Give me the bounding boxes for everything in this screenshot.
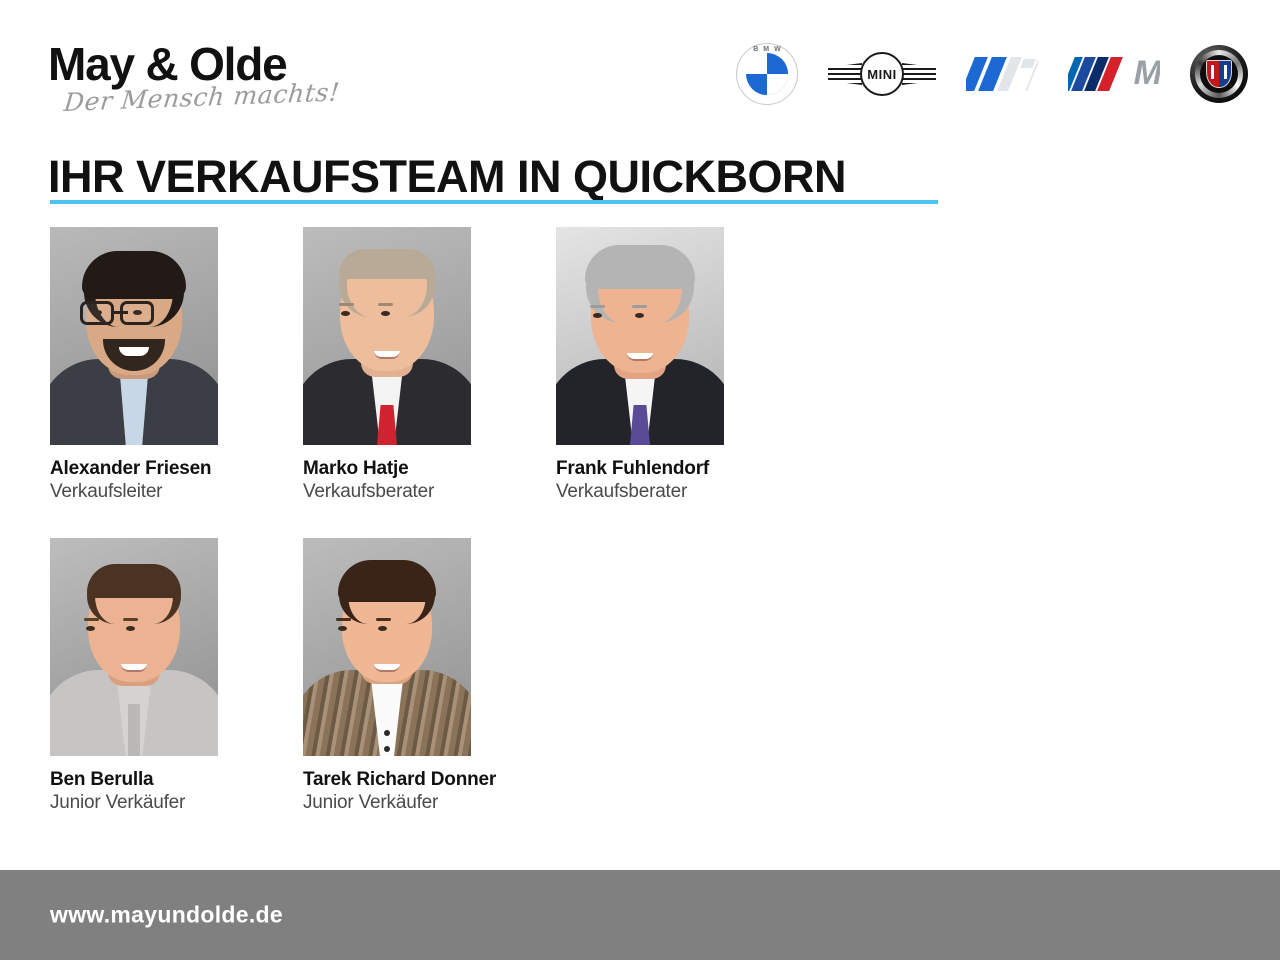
- title-underline-rule: [50, 200, 938, 204]
- team-grid: Alexander Friesen Verkaufsleiter Marko H…: [50, 227, 1230, 849]
- member-name: Tarek Richard Donner: [303, 769, 471, 791]
- member-portrait-photo: [556, 227, 724, 445]
- mini-logo-text: MINI: [867, 67, 896, 82]
- bmw-m-letter: M: [1134, 57, 1160, 91]
- team-member-card[interactable]: Tarek Richard Donner Junior Verkäufer: [303, 538, 471, 814]
- bmw-logo-text: BMW: [736, 46, 798, 53]
- page-title: IHR VERKAUFSTEAM IN QUICKBORN: [48, 151, 846, 203]
- company-logo[interactable]: May & Olde Der Mensch machts!: [48, 38, 368, 128]
- brand-logo-strip: BMW MINI M: [736, 40, 1248, 108]
- team-member-card[interactable]: Marko Hatje Verkaufsberater: [303, 227, 471, 503]
- member-name: Alexander Friesen: [50, 458, 218, 480]
- mini-wing-right: [902, 63, 936, 85]
- alpina-logo: [1190, 45, 1248, 103]
- mini-logo: MINI: [828, 49, 936, 99]
- mini-wing-left: [828, 63, 862, 85]
- team-row: Alexander Friesen Verkaufsleiter Marko H…: [50, 227, 1230, 503]
- member-portrait-photo: [50, 538, 218, 756]
- member-role: Verkaufsleiter: [50, 481, 218, 503]
- member-role: Junior Verkäufer: [303, 792, 471, 814]
- footer-website-url[interactable]: www.mayundolde.de: [50, 902, 283, 929]
- member-role: Verkaufsberater: [303, 481, 471, 503]
- member-name: Marko Hatje: [303, 458, 471, 480]
- member-portrait-photo: [303, 227, 471, 445]
- team-member-card[interactable]: Alexander Friesen Verkaufsleiter: [50, 227, 218, 503]
- member-role: Verkaufsberater: [556, 481, 724, 503]
- team-row: Ben Berulla Junior Verkäufer Tarek Ri: [50, 538, 1230, 814]
- team-member-card[interactable]: Ben Berulla Junior Verkäufer: [50, 538, 218, 814]
- alpina-shield: [1206, 60, 1232, 88]
- member-name: Frank Fuhlendorf: [556, 458, 724, 480]
- member-name: Ben Berulla: [50, 769, 218, 791]
- bmw-i-logo: [966, 57, 1038, 91]
- bmw-logo: BMW: [736, 43, 798, 105]
- team-member-card[interactable]: Frank Fuhlendorf Verkaufsberater: [556, 227, 724, 503]
- member-portrait-photo: [303, 538, 471, 756]
- page-footer: www.mayundolde.de: [0, 870, 1280, 960]
- mini-circle: MINI: [860, 52, 904, 96]
- page-header: May & Olde Der Mensch machts! BMW MINI: [0, 0, 1280, 140]
- member-role: Junior Verkäufer: [50, 792, 218, 814]
- bmw-m-logo: M: [1068, 57, 1160, 91]
- member-portrait-photo: [50, 227, 218, 445]
- bmw-quadrants: [746, 53, 788, 95]
